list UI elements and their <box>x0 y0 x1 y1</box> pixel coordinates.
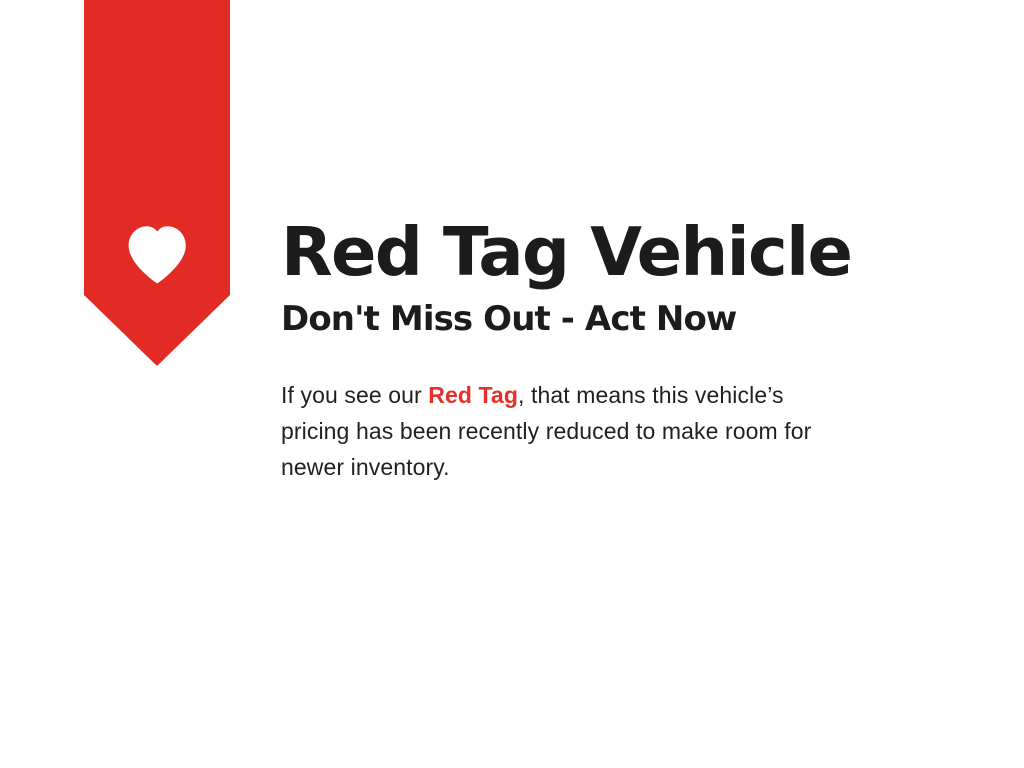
red-tag-marker <box>84 0 230 366</box>
promo-description-lead: If you see our <box>281 382 428 408</box>
red-tag-promo-banner: Red Tag Vehicle Don't Miss Out - Act Now… <box>0 0 1024 768</box>
tag-ribbon-shape <box>84 0 230 366</box>
promo-description: If you see our Red Tag, that means this … <box>281 377 817 485</box>
promo-text-block: Red Tag Vehicle Don't Miss Out - Act Now… <box>281 218 901 485</box>
red-tag-highlight: Red Tag <box>428 382 518 408</box>
promo-subheadline: Don't Miss Out - Act Now <box>281 302 901 338</box>
page-title: Red Tag Vehicle <box>281 218 901 286</box>
